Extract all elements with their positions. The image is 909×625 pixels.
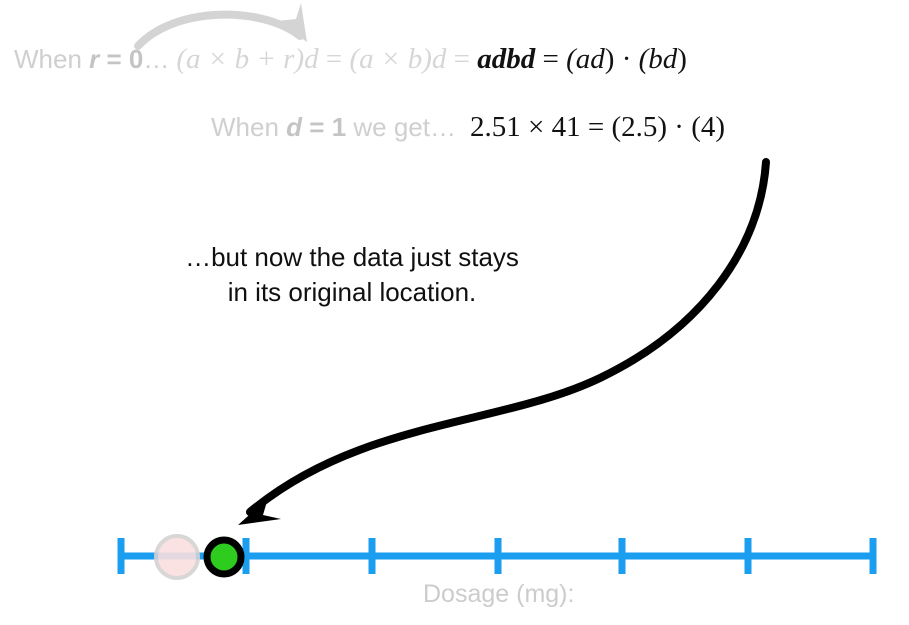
- line1-lead-variable: r: [89, 44, 99, 74]
- line1-lead-prefix: When: [14, 44, 89, 74]
- line1-solid-dot: ·: [614, 43, 638, 75]
- slide-canvas: When r = 0…(a × b + r)d = (a × b)d = adb…: [0, 0, 909, 625]
- line2-sup-2: 1: [566, 111, 581, 143]
- line2-lead-equals: =: [302, 112, 332, 142]
- axis-label: Dosage (mg):: [423, 580, 574, 609]
- equation-line-2: When d = 1 we get…2.51 × 41 = (2.5) · (4…: [211, 113, 725, 142]
- diagram-graphics-layer: [0, 0, 909, 625]
- line2-lead-variable: d: [286, 112, 302, 142]
- line1-faded-expr-1-sup: d: [304, 43, 319, 75]
- line1-faded-expr-2-sup: d: [432, 43, 447, 75]
- line2-base-1: 2.5: [470, 111, 506, 143]
- gray-curved-arrow-icon: [138, 3, 307, 46]
- ghost-data-point: [156, 536, 198, 578]
- line2-equals: =: [581, 111, 612, 143]
- line1-solid-equals: =: [535, 43, 566, 75]
- line2-lead-prefix: When: [211, 112, 286, 142]
- line1-faded-expr-1: (a × b + r): [176, 43, 304, 75]
- main-curved-arrow-icon: [238, 162, 766, 525]
- line2-lead-suffix: we get…: [346, 112, 456, 142]
- line1-solid-b: b: [506, 43, 521, 75]
- callout-text: …but now the data just stays in its orig…: [147, 240, 557, 311]
- line2-dot: ·: [667, 111, 691, 143]
- line1-solid-group-b-sup: d: [663, 43, 678, 75]
- line1-lead-suffix: …: [143, 44, 169, 74]
- line1-solid-group-a-sup: d: [590, 43, 605, 75]
- line1-solid-a-sup: d: [492, 43, 507, 75]
- line1-solid-a: a: [477, 43, 492, 75]
- line1-solid-group-b-open: (b: [639, 43, 663, 75]
- line2-result-1: (2.5): [611, 111, 667, 143]
- callout-line-2: in its original location.: [147, 275, 557, 310]
- line2-sup-1: 1: [506, 111, 521, 143]
- line2-lead-value: 1: [332, 112, 346, 142]
- line1-faded-expr-2: (a × b): [350, 43, 432, 75]
- line1-faded-equals-2: =: [446, 43, 477, 75]
- line2-base-2: 4: [552, 111, 567, 143]
- line1-solid-group-a-close: ): [605, 43, 615, 75]
- active-data-point: [207, 540, 241, 574]
- line1-lead-equals: =: [99, 44, 129, 74]
- line2-times: ×: [521, 111, 552, 143]
- line1-solid-group-a-open: (a: [566, 43, 590, 75]
- equation-line-1: When r = 0…(a × b + r)d = (a × b)d = adb…: [14, 45, 687, 74]
- callout-line-1: …but now the data just stays: [147, 240, 557, 275]
- line1-faded-equals-1: =: [319, 43, 350, 75]
- line1-solid-b-sup: d: [521, 43, 536, 75]
- line2-result-2: (4): [691, 111, 725, 143]
- line1-lead-value: 0: [129, 44, 143, 74]
- line1-solid-group-b-close: ): [677, 43, 687, 75]
